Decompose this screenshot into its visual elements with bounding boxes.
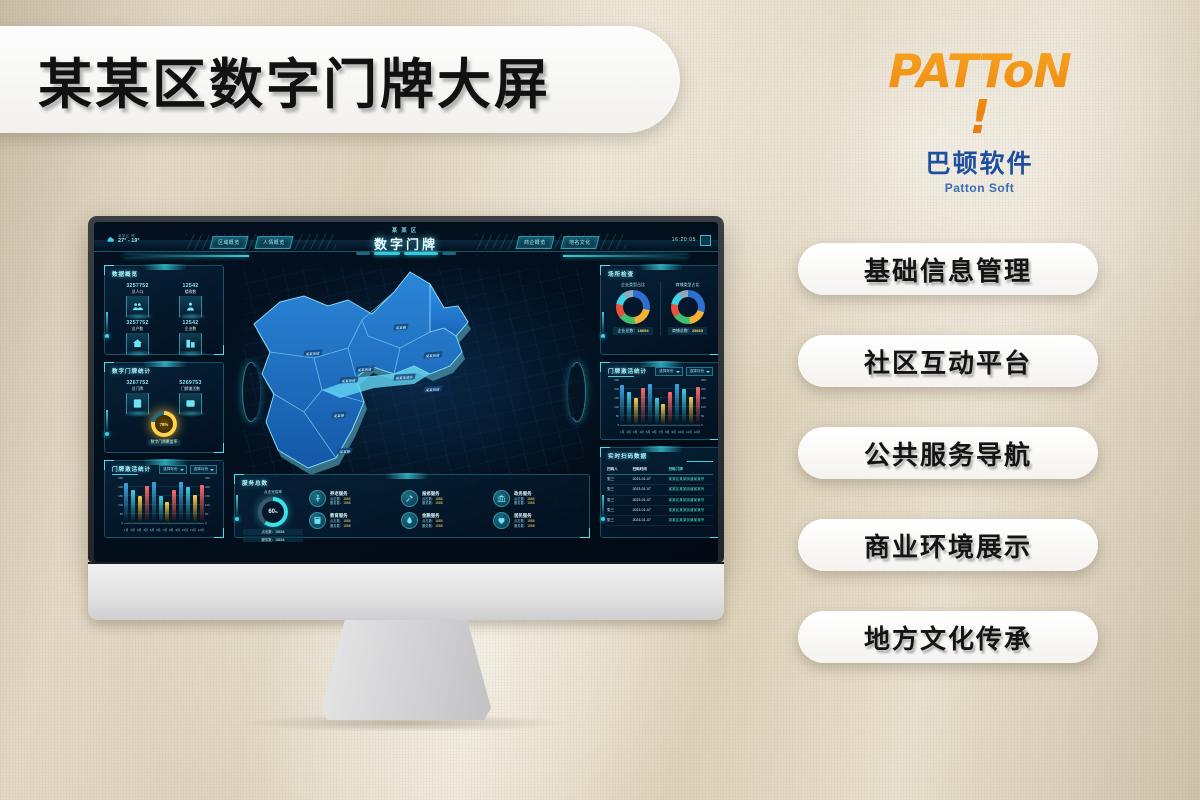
panel-thermometer-decor — [105, 312, 110, 338]
donut-total: 企业总数：18654 — [613, 327, 652, 335]
panel-activation-left: 门牌激活统计 选择年份 选择月份 250 200 150 100 50 0 25… — [104, 460, 224, 538]
x-axis-labels: 1月2月3月4月5月6月7月8月9月10月11月12月 — [124, 528, 204, 532]
stat-label: 楼栋数 — [164, 290, 217, 295]
x-tick-label: 4月 — [143, 528, 148, 532]
stat-hologram — [126, 333, 149, 354]
service-serves: 服务数：1588 — [422, 524, 443, 528]
stat-card-enterprises: 12542 企业数 — [164, 320, 217, 354]
service-serves: 服务数：1588 — [330, 524, 351, 528]
bar — [131, 490, 135, 523]
menu-item-label: 社区互动平台 — [864, 343, 1032, 380]
cell-name: 张三 — [607, 518, 632, 523]
home-icon — [132, 338, 143, 349]
coin-icon — [405, 516, 414, 525]
cell-time: 2023-01-07 — [632, 508, 668, 513]
stat-value: 3267752 — [111, 380, 164, 386]
x-tick-label: 10月 — [678, 430, 684, 434]
service-icon — [309, 512, 326, 529]
menu-item-business-env[interactable]: 商业环境展示 — [798, 519, 1098, 571]
month-select[interactable]: 选择月份 — [190, 465, 217, 474]
column-header: 扫码时间 — [632, 467, 668, 472]
bar — [627, 392, 631, 425]
dashboard-title: 数字门牌 — [94, 234, 718, 253]
y2-tick: 150 — [701, 396, 713, 400]
x-tick-label: 6月 — [652, 430, 657, 434]
dashboard-subtitle: 某某区 — [94, 226, 718, 234]
menu-item-community[interactable]: 社区互动平台 — [798, 335, 1098, 387]
stat-label: 总人口 — [111, 290, 164, 295]
y-tick: 100 — [607, 405, 619, 409]
stat-card-population: 3257752 总人口 — [111, 283, 164, 317]
bar — [661, 404, 665, 425]
stat-card-total-plates: 3267752 总门牌 — [111, 380, 164, 414]
panel-realtime-scan: 实时扫码数据 扫码人 扫码时间 扫码门牌 张三 2023-01-07 某某区某某… — [600, 447, 718, 538]
panel-top-accent — [385, 473, 429, 479]
service-item-finance[interactable]: 金融服务 点击数：1886 服务数：1588 — [401, 511, 487, 532]
donut-chart[interactable] — [616, 290, 650, 324]
panel-top-accent — [143, 264, 187, 270]
x-tick-label: 5月 — [646, 430, 651, 434]
activation-bar-chart: 250 200 150 100 50 0 250 200 150 100 50 … — [111, 478, 217, 533]
service-completion: 点击完成率 60% 点击数：18654 服务数：18654 — [243, 490, 303, 542]
menu-item-label: 地方文化传承 — [864, 619, 1032, 656]
year-select[interactable]: 选择年份 — [159, 465, 186, 474]
header-glow-bar — [356, 252, 456, 255]
header-rail-left — [124, 255, 249, 257]
service-serves: 服务数：1588 — [330, 501, 351, 505]
x-tick-label: 8月 — [665, 430, 670, 434]
clock: 16:20:05 — [672, 237, 696, 243]
panel-service-total: 服务总数 点击完成率 60% 点击数：18654 服务数：18654 — [234, 474, 590, 538]
y2-tick: 200 — [205, 485, 217, 489]
dashboard: 某某区 晴 27° - 19° 区域概览 人情概览 商企概览 地名文化 某某区 … — [94, 222, 718, 562]
y-tick: 250 — [607, 378, 619, 382]
service-item-elderly[interactable]: 养老服务 点击数：1886 服务数：1588 — [309, 488, 395, 509]
cell-address: 某某区某某街道某某号 — [668, 487, 713, 492]
service-serves: 服务数：1588 — [514, 524, 535, 528]
bar — [200, 485, 204, 523]
y2-tick: 250 — [701, 378, 713, 382]
title-banner: 某某区数字门牌大屏 — [0, 26, 680, 133]
service-icon — [493, 490, 510, 507]
card-icon — [185, 398, 196, 409]
menu-item-label: 公共服务导航 — [864, 435, 1032, 472]
completion-value: 60% — [268, 509, 277, 515]
table-row[interactable]: 张三 2023-01-07 某某区某某街道某某号 — [607, 475, 713, 485]
panel-title: 门牌激活统计 — [608, 367, 647, 375]
bank-icon — [497, 494, 506, 503]
column-header: 扫码人 — [607, 467, 632, 472]
x-tick-label: 7月 — [659, 430, 664, 434]
stat-card-households: 3257752 总户数 — [111, 320, 164, 354]
fullscreen-button[interactable] — [700, 235, 711, 246]
service-total-serves: 服务数：18654 — [243, 536, 303, 542]
page-title: 某某区数字门牌大屏 — [38, 40, 551, 119]
column-header: 扫码门牌 — [668, 467, 713, 472]
table-row[interactable]: 张三 2023-01-07 某某区某某街道某某号 — [607, 496, 713, 506]
service-serves: 服务数：1588 — [422, 501, 443, 505]
donut-chart[interactable] — [671, 290, 705, 324]
table-header-row: 扫码人 扫码时间 扫码门牌 — [607, 465, 713, 475]
monitor-chin — [88, 562, 724, 620]
monitor-bezel: 某某区 晴 27° - 19° 区域概览 人情概览 商企概览 地名文化 某某区 … — [88, 216, 724, 562]
stat-value: 12542 — [164, 283, 217, 289]
donut-enterprise: 企业类型占比 企业总数：18654 — [606, 282, 660, 335]
bar — [159, 496, 163, 523]
bar — [193, 495, 197, 523]
x-tick-label: 3月 — [137, 528, 142, 532]
gauge-value: 78% — [160, 422, 168, 427]
glow-segment — [356, 252, 370, 255]
month-select[interactable]: 选择月份 — [686, 367, 713, 376]
stat-value: 3257752 — [111, 283, 164, 289]
menu-item-public-service[interactable]: 公共服务导航 — [798, 427, 1098, 479]
map-decoration-right — [568, 362, 586, 422]
stat-label: 门牌激活数 — [164, 387, 217, 392]
menu-item-label: 基础信息管理 — [864, 251, 1032, 288]
bar — [696, 387, 700, 425]
y-tick: 250 — [111, 476, 123, 480]
stat-card-activated-plates: 5269753 门牌激活数 — [164, 380, 217, 414]
x-tick-label: 12月 — [198, 528, 204, 532]
stat-hologram — [179, 333, 202, 354]
bar — [124, 483, 128, 524]
panel-data-overview: 数据概览 3257752 总人口 — [104, 265, 224, 355]
panel-title: 服务总数 — [242, 479, 268, 487]
donut-total-label: 企业总数： — [617, 328, 637, 333]
bar — [179, 482, 183, 523]
panel-activation-right: 门牌激活统计 选择年份 选择月份 250 200 150 100 50 0 25… — [600, 362, 718, 440]
elderly-icon — [313, 494, 322, 503]
panel-title: 实时扫码数据 — [608, 452, 647, 460]
y2-tick: 50 — [701, 414, 713, 418]
menu-item-label: 商业环境展示 — [864, 527, 1032, 564]
x-tick-label: 3月 — [633, 430, 638, 434]
service-grid: 养老服务 点击数：1886 服务数：1588 报修服务 点击数：1886 — [309, 488, 579, 531]
x-tick-label: 9月 — [176, 528, 181, 532]
donut-total: 商铺总数：25663 — [668, 327, 707, 335]
service-item-resident[interactable]: 居民服务 点击数：1886 服务数：1588 — [493, 511, 579, 532]
cell-address: 某某区某某街道某某号 — [668, 508, 713, 513]
heart-icon — [497, 516, 506, 525]
panel-thermometer-decor — [235, 495, 240, 521]
y2-tick: 150 — [205, 494, 217, 498]
y-tick: 150 — [111, 494, 123, 498]
service-total-clicks: 点击数：18654 — [243, 529, 303, 535]
x-tick-label: 2月 — [626, 430, 631, 434]
building-icon — [185, 338, 196, 349]
service-icon — [309, 490, 326, 507]
cell-time: 2023-01-07 — [632, 477, 668, 482]
y-tick: 200 — [111, 485, 123, 489]
cell-time: 2023-01-07 — [632, 487, 668, 492]
bar — [641, 388, 645, 425]
bar — [172, 490, 176, 523]
cell-time: 2023-01-07 — [632, 498, 668, 503]
y2-tick: 50 — [205, 512, 217, 516]
bar — [682, 389, 686, 425]
donut-title: 企业类型占比 — [606, 282, 660, 288]
bar-plot-area — [620, 380, 700, 426]
y2-tick: 200 — [701, 387, 713, 391]
patton-logo: PATToN ! 巴顿软件 Patton Soft — [872, 48, 1087, 195]
donut-total-value: 25663 — [692, 328, 703, 333]
service-item-education[interactable]: 教育服务 点击数：1886 服务数：1588 — [309, 511, 395, 532]
panel-title-underline — [608, 376, 634, 377]
y-tick: 0 — [607, 423, 619, 427]
bar-plot-area — [124, 478, 204, 524]
x-tick-label: 11月 — [190, 528, 196, 532]
plate-icon — [132, 398, 143, 409]
y-tick: 0 — [111, 521, 123, 525]
stat-card-buildings: 12542 楼栋数 — [164, 283, 217, 317]
stat-value: 5269753 — [164, 380, 217, 386]
y2-tick: 0 — [205, 521, 217, 525]
y2-tick: 0 — [701, 423, 713, 427]
dashboard-header: 某某区 晴 27° - 19° 区域概览 人情概览 商企概览 地名文化 某某区 … — [94, 222, 718, 256]
table-row[interactable]: 张三 2023-01-07 某某区某某街道某某号 — [607, 506, 713, 516]
x-tick-label: 11月 — [686, 430, 692, 434]
bar — [655, 398, 659, 425]
coverage-gauge-wrap: 78% 数字门牌覆盖率 — [105, 411, 223, 446]
people-icon — [132, 301, 143, 312]
bar — [675, 384, 679, 425]
menu-item-basic-info[interactable]: 基础信息管理 — [798, 243, 1098, 295]
y-tick: 200 — [607, 387, 619, 391]
cell-address: 某某区某某街道某某号 — [668, 518, 713, 523]
chart-filters: 选择年份 选择月份 — [159, 465, 217, 474]
bar — [634, 398, 638, 425]
panel-top-accent — [639, 264, 683, 270]
logo-wordmark: PATToN ! — [872, 48, 1087, 140]
stat-label: 企业数 — [164, 327, 217, 332]
logo-chinese-name: 巴顿软件 — [872, 144, 1087, 180]
panel-title: 数据概览 — [112, 270, 138, 278]
completion-label: 点击完成率 — [243, 490, 303, 495]
panel-title-underline — [112, 474, 138, 475]
bar — [620, 385, 624, 426]
stat-hologram — [179, 296, 202, 317]
gauge-label: 数字门牌覆盖率 — [147, 439, 182, 446]
bar — [165, 502, 169, 523]
cell-name: 张三 — [607, 477, 632, 482]
x-tick-label: 4月 — [639, 430, 644, 434]
panel-title-underline — [687, 461, 713, 462]
panel-venue-inspection: 场所检查 企业类型占比 企业总数：18654 商铺类型占比 — [600, 265, 718, 355]
monitor-stand — [321, 620, 491, 720]
donut-row: 企业类型占比 企业总数：18654 商铺类型占比 商铺总数：25663 — [606, 282, 714, 335]
x-tick-label: 12月 — [694, 430, 700, 434]
cell-name: 张三 — [607, 487, 632, 492]
chart-filters: 选择年份 选择月份 — [655, 367, 713, 376]
map-district-label: 某某镇 — [331, 412, 347, 419]
activation-bar-chart: 250 200 150 100 50 0 250 200 150 100 50 … — [607, 380, 713, 435]
x-tick-label: 1月 — [620, 430, 625, 434]
bar — [152, 482, 156, 523]
feature-menu: 基础信息管理 社区互动平台 公共服务导航 商业环境展示 地方文化传承 — [798, 243, 1098, 703]
cell-address: 某某区某某街道某某号 — [668, 498, 713, 503]
y2-tick: 100 — [205, 503, 217, 507]
y-tick: 50 — [111, 512, 123, 516]
x-tick-label: 10月 — [182, 528, 188, 532]
donut-total-value: 18654 — [637, 328, 648, 333]
map-district-label: 某某镇 — [393, 324, 409, 331]
table-row[interactable]: 张三 2023-01-07 某某区某某街道某某号 — [607, 485, 713, 495]
panel-thermometer-decor — [601, 495, 606, 521]
book-icon — [313, 516, 322, 525]
tools-icon — [405, 494, 414, 503]
panel-title: 门牌激活统计 — [112, 465, 151, 473]
cell-time: 2023-01-07 — [632, 518, 668, 523]
x-tick-label: 8月 — [169, 528, 174, 532]
header-rail-right — [563, 255, 688, 257]
stat-value: 3257752 — [111, 320, 164, 326]
menu-item-local-culture[interactable]: 地方文化传承 — [798, 611, 1098, 663]
bar — [668, 392, 672, 425]
y-tick: 150 — [607, 396, 619, 400]
cell-name: 张三 — [607, 508, 632, 513]
x-tick-label: 2月 — [130, 528, 135, 532]
panel-plate-statistics: 数字门牌统计 3267752 总门牌 5269753 — [104, 362, 224, 453]
glow-segment — [404, 252, 438, 255]
x-tick-label: 6月 — [156, 528, 161, 532]
bar — [145, 486, 149, 523]
service-serves: 服务数：1588 — [514, 501, 535, 505]
cell-name: 张三 — [607, 498, 632, 503]
table-row[interactable]: 张三 2023-01-07 某某区某某街道某某号 — [607, 516, 713, 526]
monitor-screen: 某某区 晴 27° - 19° 区域概览 人情概览 商企概览 地名文化 某某区 … — [94, 222, 718, 562]
service-icon — [401, 490, 418, 507]
coverage-gauge: 78% — [151, 411, 177, 437]
y2-tick: 100 — [701, 405, 713, 409]
stat-grid: 3257752 总人口 12542 楼栋数 — [111, 283, 217, 357]
bar — [648, 384, 652, 425]
x-axis-labels: 1月2月3月4月5月6月7月8月9月10月11月12月 — [620, 430, 700, 434]
service-icon — [493, 512, 510, 529]
completion-ring: 60% — [258, 497, 288, 527]
glow-segment — [442, 252, 456, 255]
map-district-label: 某某镇 — [337, 448, 353, 455]
panel-thermometer-decor — [601, 312, 606, 338]
donut-title: 商铺类型占比 — [661, 282, 714, 288]
panel-title: 场所检查 — [608, 270, 634, 278]
bar — [186, 487, 190, 523]
monitor-mockup: 某某区 晴 27° - 19° 区域概览 人情概览 商企概览 地名文化 某某区 … — [88, 216, 724, 732]
year-select[interactable]: 选择年份 — [655, 367, 682, 376]
x-tick-label: 1月 — [124, 528, 129, 532]
logo-english-name: Patton Soft — [872, 181, 1087, 195]
y2-tick: 250 — [205, 476, 217, 480]
bar — [138, 496, 142, 523]
scan-table: 扫码人 扫码时间 扫码门牌 张三 2023-01-07 某某区某某街道某某号 张… — [607, 465, 713, 526]
stat-label: 总户数 — [111, 327, 164, 332]
stat-label: 总门牌 — [111, 387, 164, 392]
x-tick-label: 9月 — [672, 430, 677, 434]
y-tick: 50 — [607, 414, 619, 418]
glow-segment — [374, 252, 400, 255]
x-tick-label: 7月 — [163, 528, 168, 532]
bar — [689, 397, 693, 425]
donut-total-label: 商铺总数： — [672, 328, 692, 333]
y-tick: 100 — [111, 503, 123, 507]
stat-value: 12542 — [164, 320, 217, 326]
panel-title: 数字门牌统计 — [112, 367, 151, 375]
service-item-repair[interactable]: 报修服务 点击数：1886 服务数：1588 — [401, 488, 487, 509]
map-decoration-left — [242, 362, 260, 422]
donut-shop: 商铺类型占比 商铺总数：25663 — [660, 282, 714, 335]
stat-hologram — [126, 296, 149, 317]
service-item-government[interactable]: 政务服务 点击数：1886 服务数：1588 — [493, 488, 579, 509]
service-icon — [401, 512, 418, 529]
x-tick-label: 5月 — [150, 528, 155, 532]
person-icon — [185, 301, 196, 312]
cell-address: 某某区某某街道某某号 — [668, 477, 713, 482]
